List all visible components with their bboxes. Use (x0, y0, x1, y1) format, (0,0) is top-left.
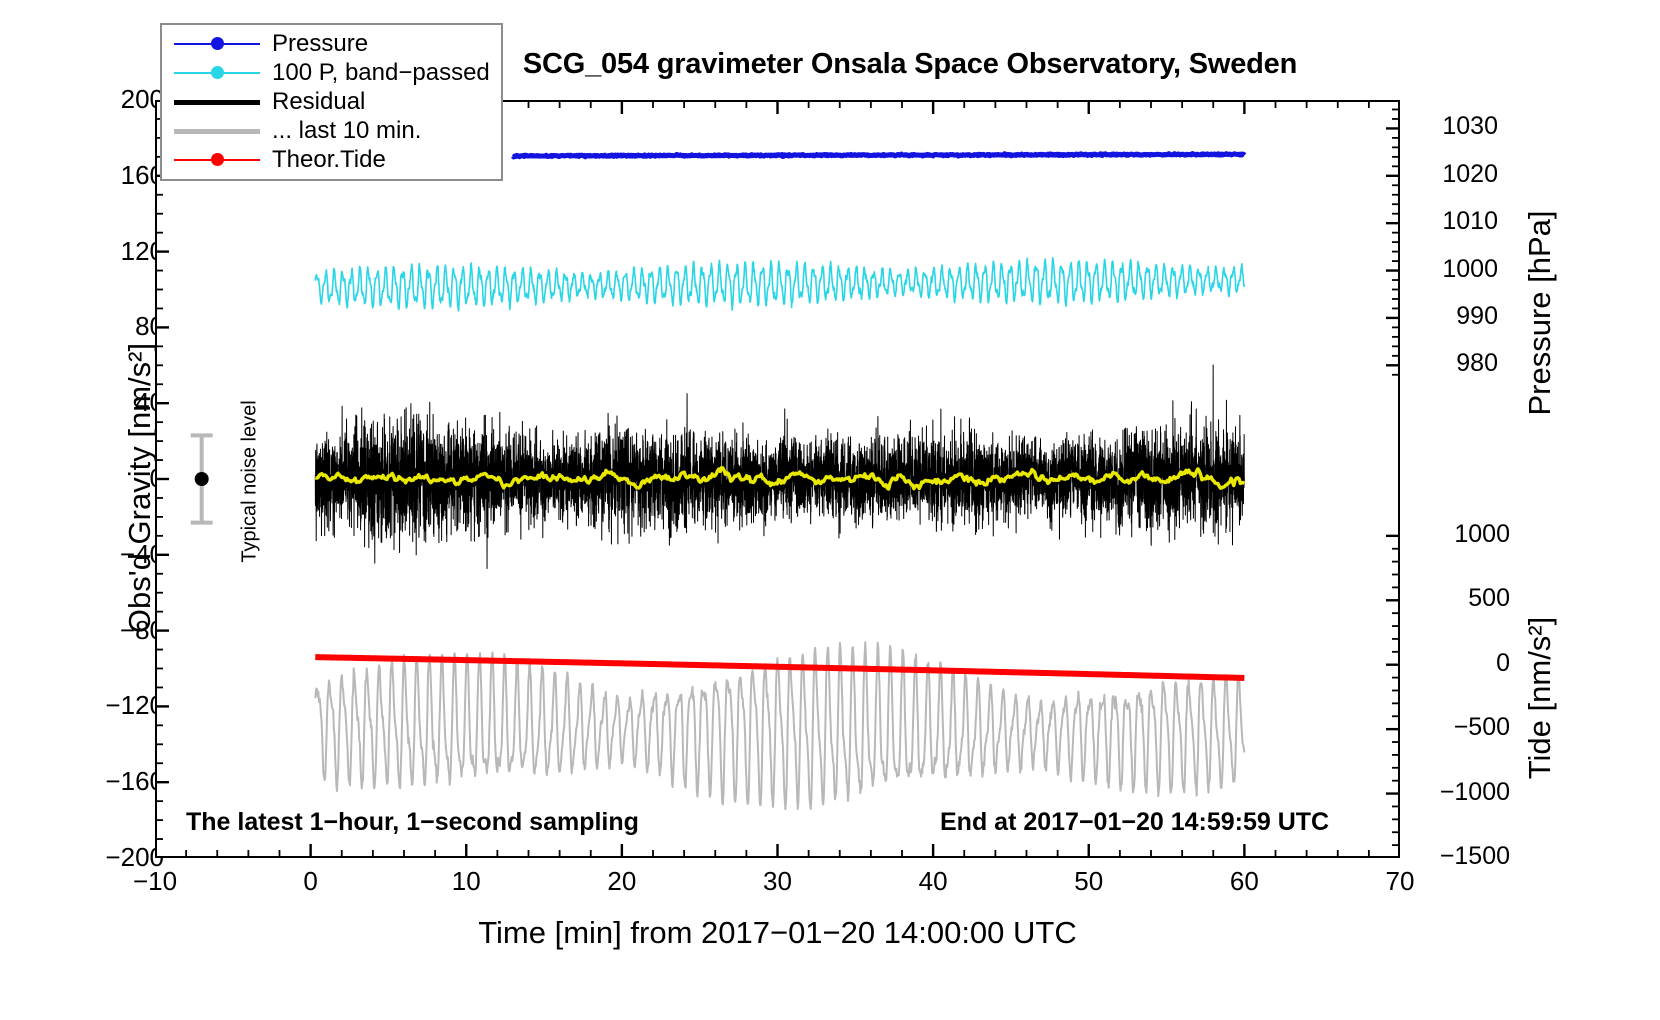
sampling-note: The latest 1−hour, 1−second sampling (186, 808, 639, 837)
y-axis-tide-tick-label: −1000 (1414, 778, 1510, 807)
end-time-note: End at 2017−01−20 14:59:59 UTC (940, 808, 1329, 837)
y-axis-pressure-tick-label: 980 (1414, 349, 1498, 378)
legend-swatch-pressure (174, 34, 260, 54)
x-axis-tick-label: 0 (261, 866, 361, 897)
typical-noise-level-label: Typical noise level (239, 372, 262, 592)
x-axis-tick-label: 70 (1350, 866, 1450, 897)
plot-canvas (155, 100, 1400, 858)
y-axis-tide-tick-label: 1000 (1414, 520, 1510, 549)
x-axis-title: Time [min] from 2017−01−20 14:00:00 UTC (155, 915, 1400, 951)
legend-item-residual[interactable]: Residual (162, 87, 501, 116)
legend-item-last10min[interactable]: ... last 10 min. (162, 116, 501, 145)
legend-swatch-theortide (174, 150, 260, 170)
legend-swatch-bandpassed (174, 63, 260, 83)
y-axis-tide-tick-label: 0 (1414, 649, 1510, 678)
y-axis-tide-tick-label: 500 (1414, 584, 1510, 613)
legend-item-bandpassed[interactable]: 100 P, band−passed (162, 58, 501, 87)
legend-line-icon (174, 129, 260, 134)
x-axis-tick-label: 40 (883, 866, 983, 897)
legend-label-pressure: Pressure (260, 30, 368, 58)
legend-label-residual: Residual (260, 88, 365, 116)
y-axis-tide-tick-label: −500 (1414, 713, 1510, 742)
y-axis-pressure-tick-label: 1010 (1414, 207, 1498, 236)
legend-line-icon (174, 100, 260, 105)
legend-dot-icon (211, 37, 224, 50)
legend-label-last10min: ... last 10 min. (260, 117, 421, 145)
legend-dot-icon (211, 153, 224, 166)
legend-dot-icon (211, 66, 224, 79)
y-axis-pressure-tick-label: 1020 (1414, 160, 1498, 189)
legend-swatch-residual (174, 92, 260, 112)
legend-label-bandpassed: 100 P, band−passed (260, 59, 490, 87)
chart-page: SCG_054 gravimeter Onsala Space Observat… (0, 0, 1660, 1020)
x-axis-tick-label: 60 (1194, 866, 1294, 897)
noise-errorbar-dot (195, 472, 209, 486)
x-axis-tick-label: 50 (1039, 866, 1139, 897)
legend-swatch-last10min (174, 121, 260, 141)
y-axis-pressure-tick-label: 990 (1414, 302, 1498, 331)
y-axis-right-tide-title: Tide [nm/s²] (1522, 498, 1558, 898)
series-residual (315, 365, 1244, 568)
y-axis-pressure-tick-label: 1000 (1414, 255, 1498, 284)
x-axis-tick-label: 10 (416, 866, 516, 897)
legend-item-theortide[interactable]: Theor.Tide (162, 145, 501, 174)
x-axis-tick-label: 20 (572, 866, 672, 897)
legend: Pressure 100 P, band−passed Residual ...… (160, 23, 503, 181)
x-axis-tick-label: −10 (105, 866, 205, 897)
series-pressure (513, 154, 1244, 158)
legend-item-pressure[interactable]: Pressure (162, 29, 501, 58)
x-axis-tick-label: 30 (728, 866, 828, 897)
y-axis-pressure-tick-label: 1030 (1414, 112, 1498, 141)
legend-label-theortide: Theor.Tide (260, 146, 386, 174)
y-axis-right-pressure-title: Pressure [hPa] (1522, 53, 1558, 573)
series-bandpassed-pressure (315, 258, 1244, 311)
